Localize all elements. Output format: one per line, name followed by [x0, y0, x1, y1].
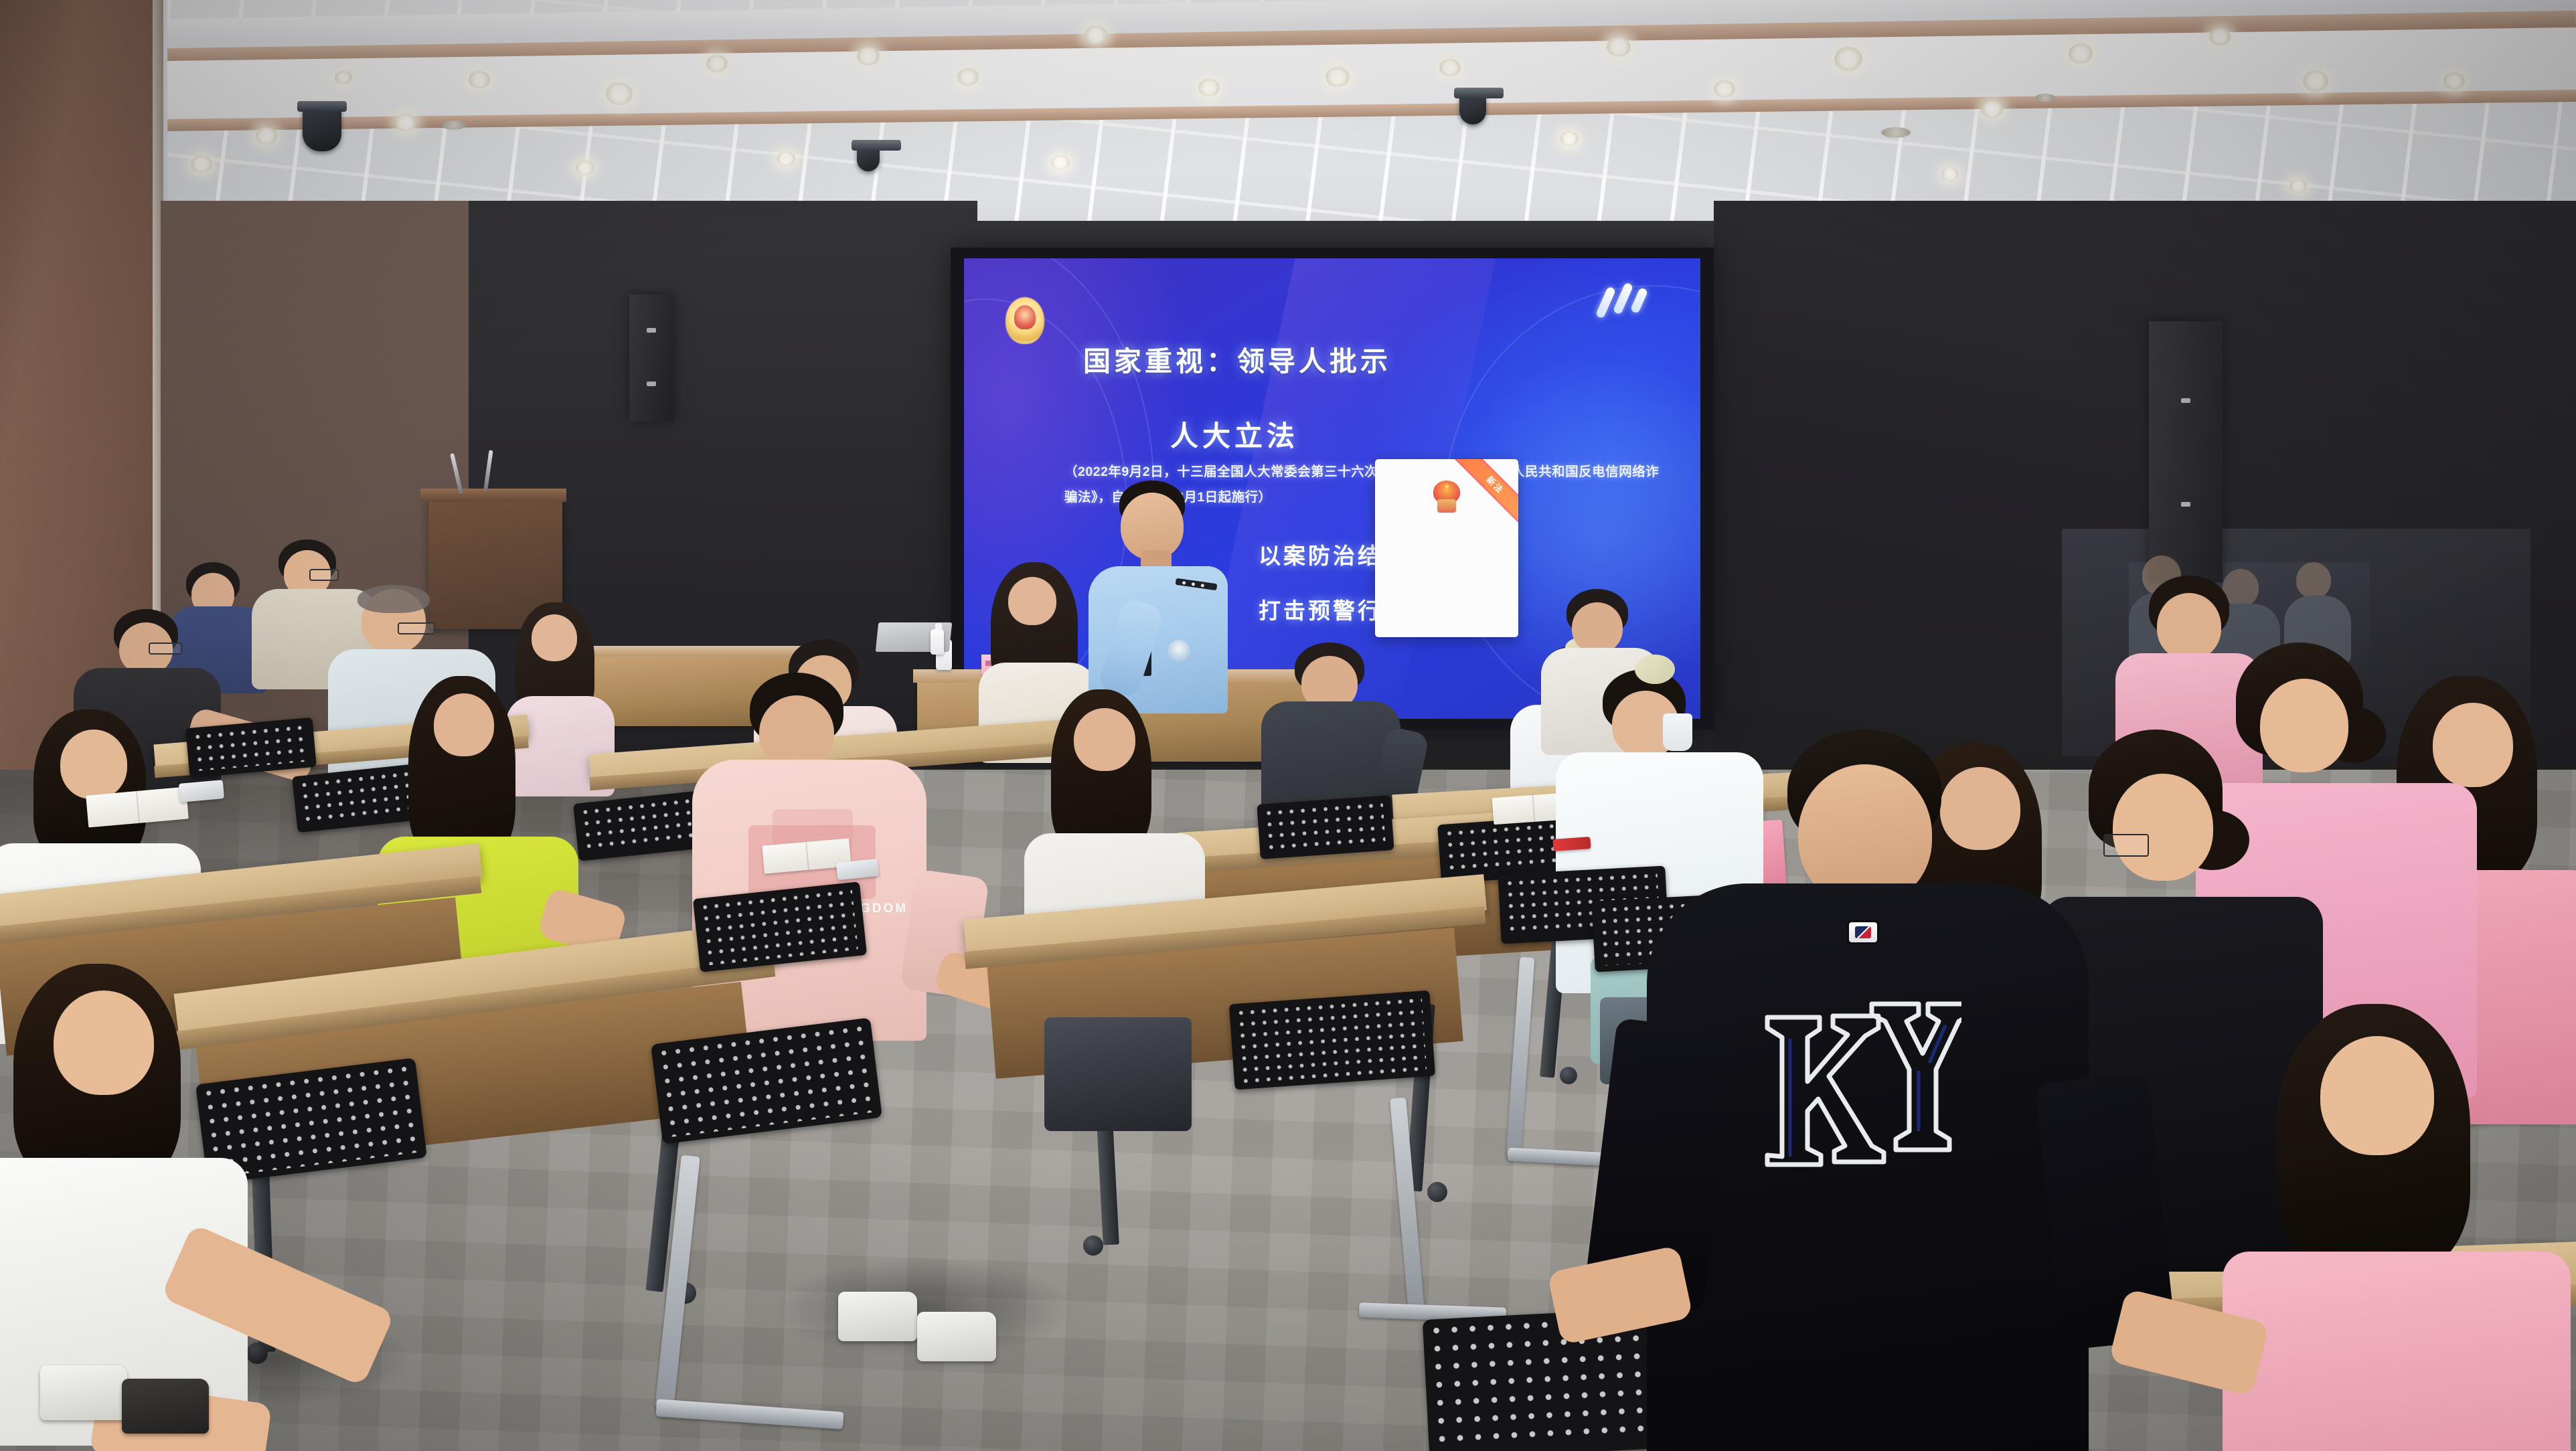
ceiling-downlight [1941, 167, 1959, 181]
lectern-top [420, 489, 566, 502]
table-caster [1427, 1182, 1447, 1202]
ceiling-downlight [1834, 47, 1862, 71]
ceiling-downlight [191, 155, 212, 173]
ceiling-downlight [1051, 155, 1070, 170]
slide-subtitle: 人大立法 [1170, 414, 1299, 454]
slash-mark-logo-icon [1599, 282, 1656, 324]
ceiling-downlight [256, 127, 277, 145]
glasses-icon [398, 622, 435, 634]
ceiling-downlight [706, 55, 728, 72]
ny-yankees-logo-icon [1741, 977, 1961, 1178]
ceiling-downlight [2069, 44, 2093, 64]
projector-mount-icon [857, 146, 880, 171]
ceiling-downlight [1982, 100, 2003, 118]
ceiling-downlight [1607, 37, 1631, 57]
ceiling-downlight [1325, 67, 1350, 87]
conference-room-photo: 国家重视：领导人批示 人大立法 （2022年9月2日，十三届全国人大常委会第三十… [0, 0, 2576, 1451]
slide-title: 国家重视：领导人批示 [1083, 339, 1391, 379]
smartphone[interactable] [179, 780, 224, 802]
ceiling-downlight [2443, 72, 2465, 90]
table-caster [1560, 1067, 1577, 1084]
ceiling-downlight [1560, 131, 1579, 146]
smoke-detector-icon [442, 120, 466, 130]
ceiling-downlight [777, 151, 795, 166]
ceiling-downlight [395, 114, 416, 131]
glasses-icon [149, 643, 182, 655]
water-bottle [931, 629, 944, 655]
ceiling-downlight [576, 161, 594, 175]
ceiling-downlight [1198, 79, 1220, 96]
ceiling-downlight [335, 71, 352, 84]
glasses-icon [309, 569, 339, 581]
prc-national-emblem-icon [1428, 479, 1465, 518]
bag [1044, 1017, 1192, 1131]
ceiling-downlight [1439, 59, 1461, 76]
hair-scrunchie [1635, 655, 1675, 684]
slide-document-graphic: 新法 [1375, 459, 1518, 637]
ceiling-downlight [2209, 28, 2231, 46]
shoe [40, 1365, 127, 1420]
ceiling-downlight [857, 47, 880, 66]
smoke-detector-icon [2035, 94, 2055, 102]
shoe [122, 1379, 209, 1434]
ceiling-downlight [2303, 70, 2328, 92]
toad-character-icon [728, 840, 751, 869]
ceiling-downlight [606, 82, 633, 105]
mlb-logo-icon [1849, 922, 1877, 942]
ceiling-downlight [469, 71, 490, 88]
glasses-icon [2103, 834, 2149, 857]
security-camera-icon [1459, 94, 1486, 124]
ceiling-downlight [957, 68, 979, 86]
ceiling-downlight [1084, 25, 1107, 44]
police-shield-patch-icon [1168, 640, 1190, 663]
smoke-detector-icon [1881, 127, 1911, 138]
shoe [917, 1312, 996, 1361]
face-mask [1663, 713, 1692, 751]
wall-speaker-column [629, 294, 673, 422]
presenter-head [1121, 493, 1184, 560]
ceiling-downlight [2289, 179, 2307, 193]
table-caster [1083, 1235, 1103, 1256]
wall-speaker-column [2149, 321, 2223, 582]
police-badge-emblem-icon [1005, 297, 1044, 344]
security-camera-icon [303, 107, 341, 151]
shoe [838, 1292, 917, 1341]
ceiling-downlight [1714, 80, 1735, 98]
